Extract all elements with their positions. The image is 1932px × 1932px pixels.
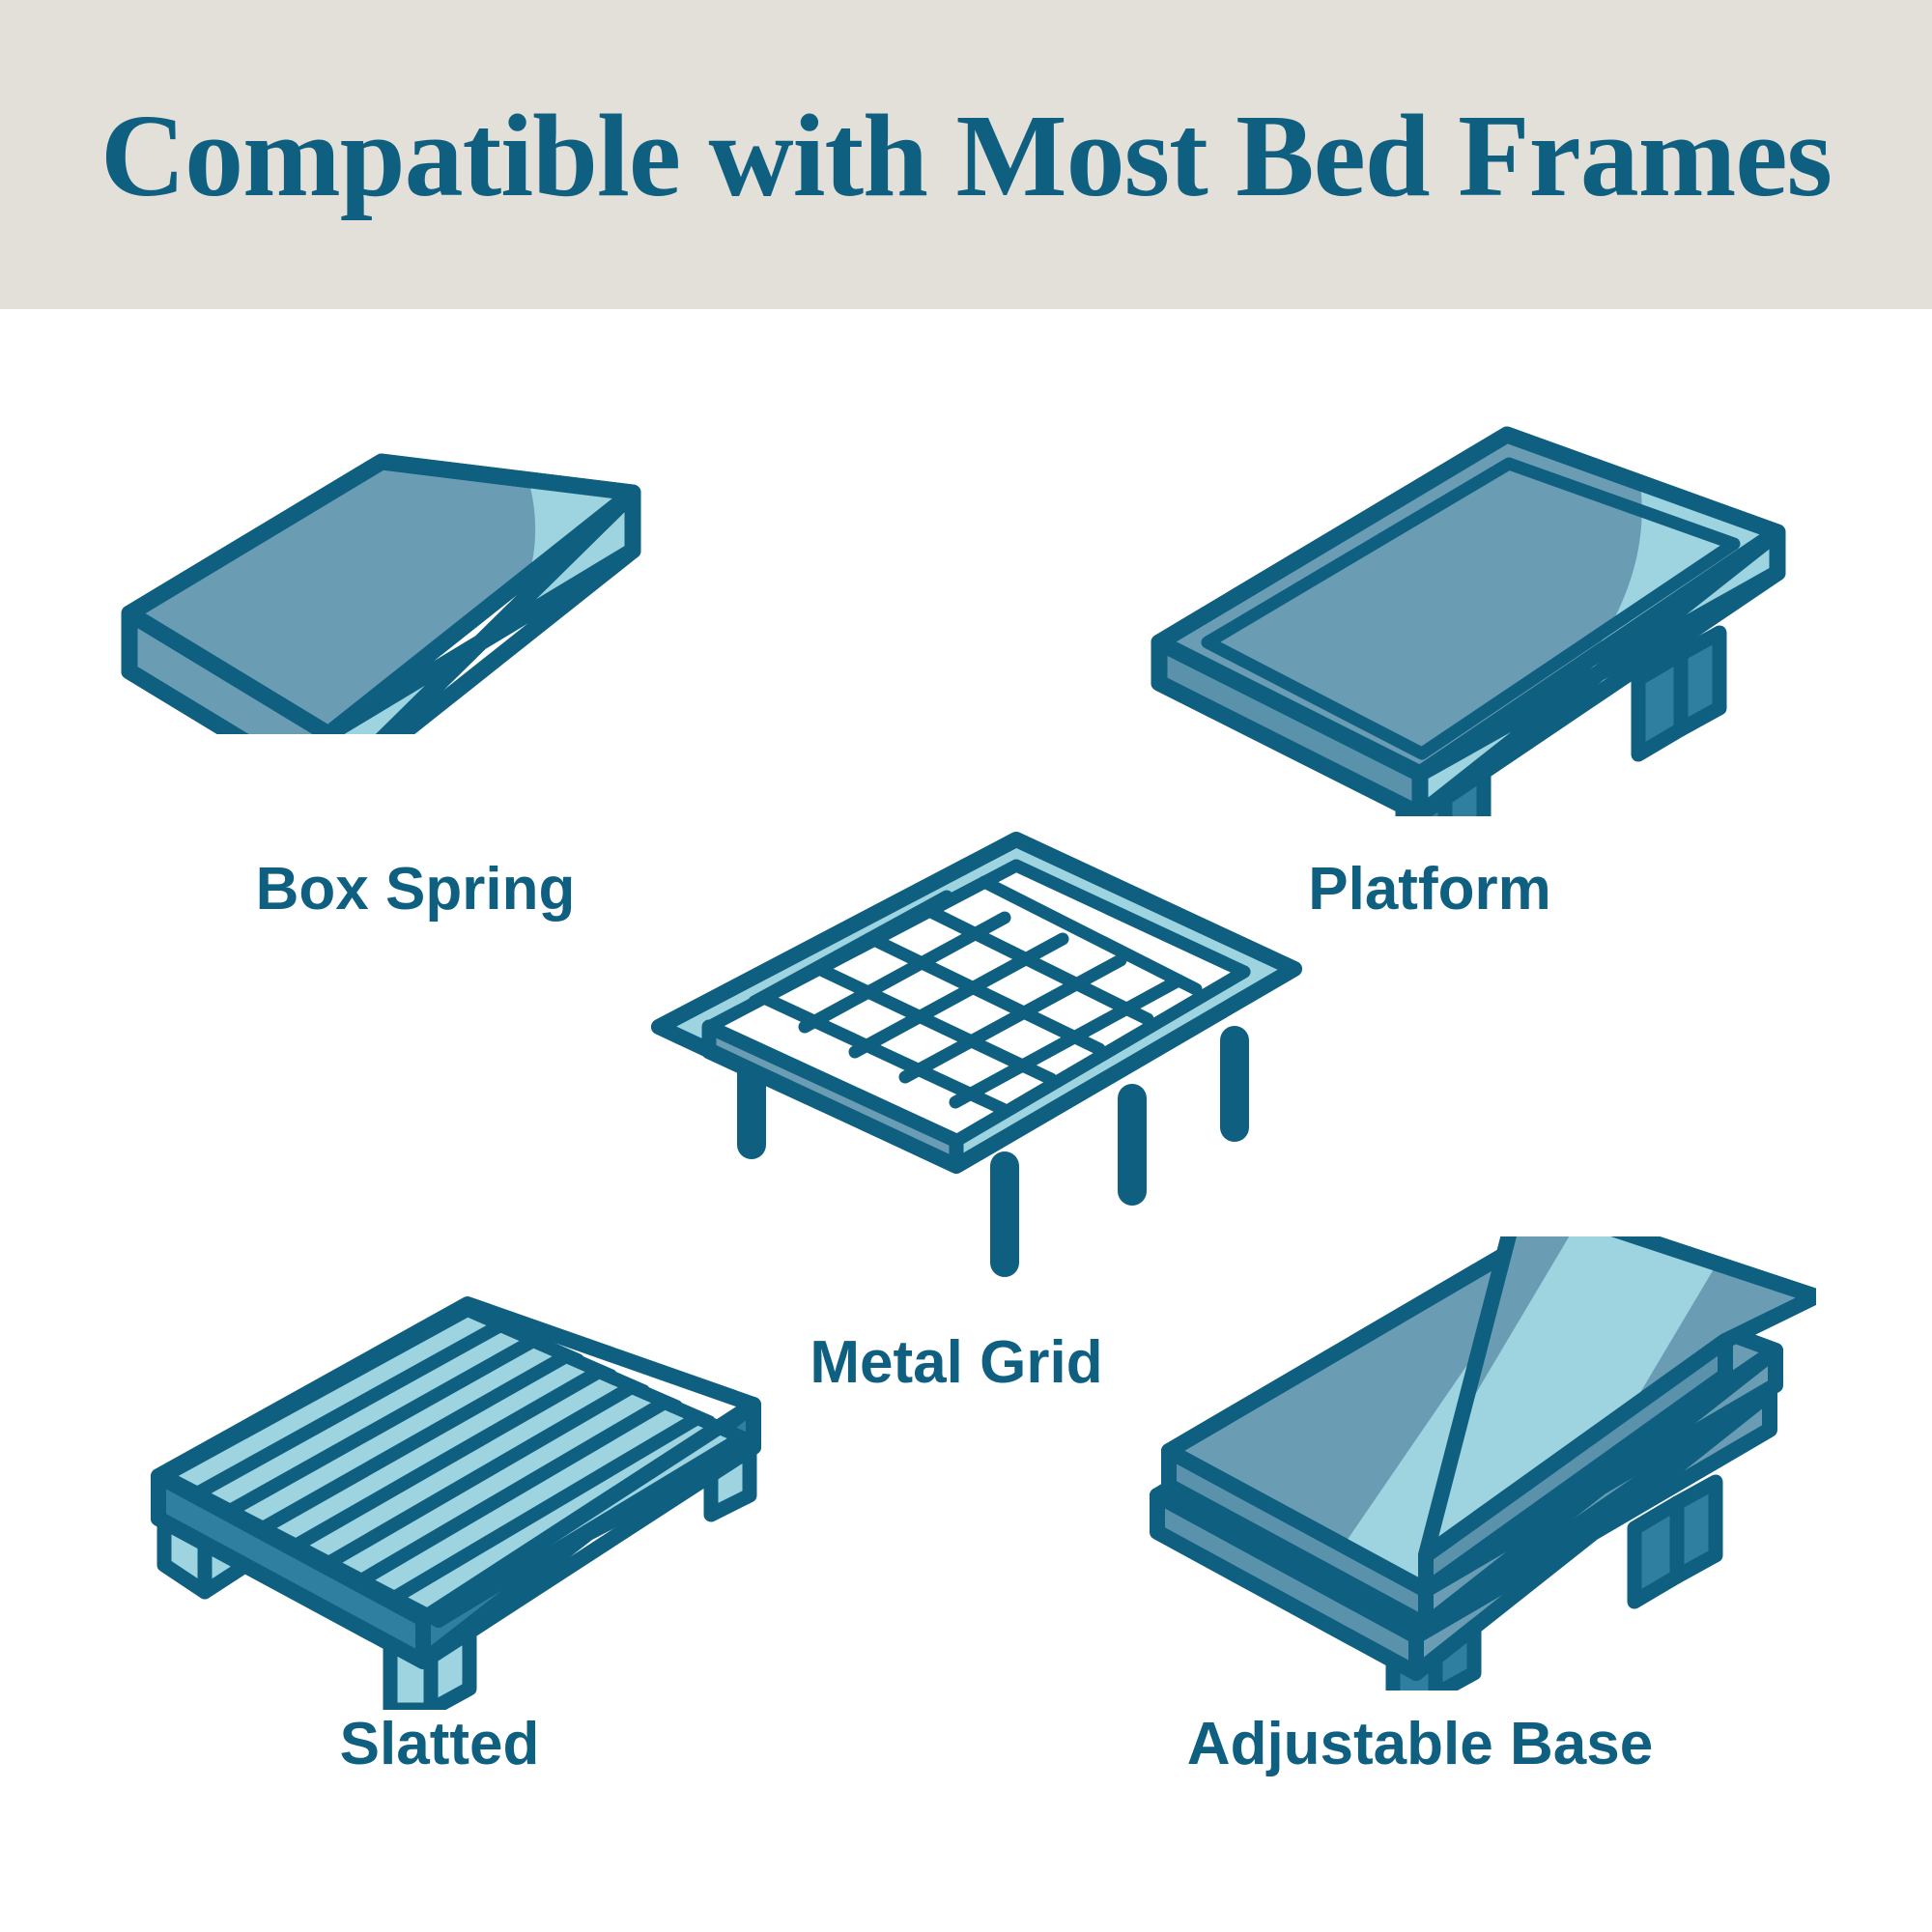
page-title: Compatible with Most Bed Frames (100, 98, 1832, 215)
item-adjustable-base (1140, 1236, 1816, 1690)
platform-illustration (1140, 401, 1816, 816)
metal-grid-illustration (638, 826, 1314, 1280)
label-box-spring: Box Spring (106, 860, 724, 920)
header-banner: Compatible with Most Bed Frames (0, 0, 1932, 309)
label-slatted: Slatted (111, 1715, 768, 1775)
slatted-base-illustration (135, 1256, 792, 1710)
item-slatted (135, 1256, 792, 1700)
item-platform (1140, 401, 1816, 807)
label-adjustable-base: Adjustable Base (1082, 1715, 1758, 1775)
adjustable-base-illustration (1140, 1236, 1816, 1690)
item-box-spring (106, 319, 724, 724)
illustration-stage: Box Spring (0, 309, 1932, 1932)
item-metal-grid (638, 826, 1314, 1270)
box-spring-illustration (106, 319, 724, 734)
